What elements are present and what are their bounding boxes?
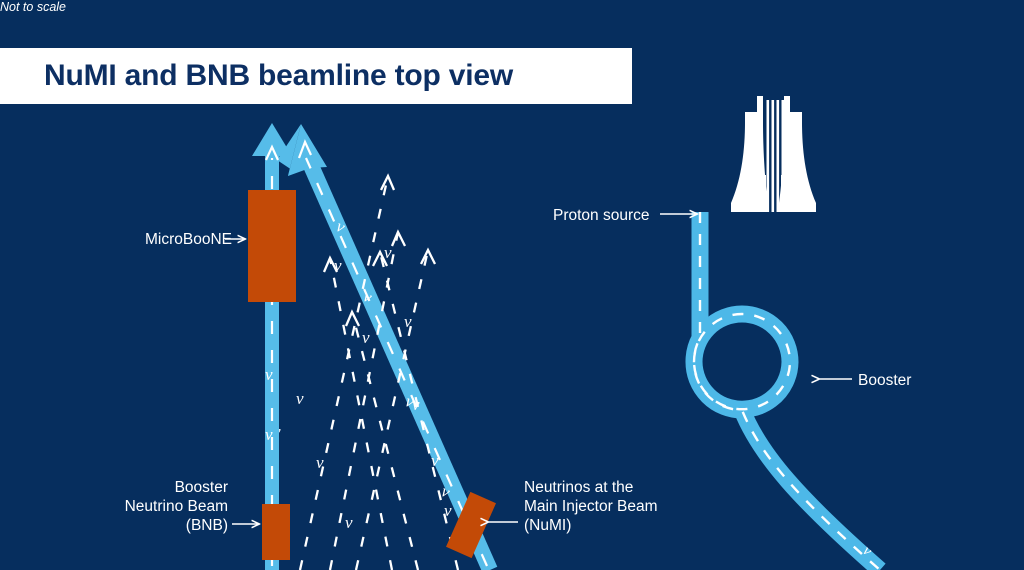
microboone-detector: [248, 190, 296, 302]
neutrino-symbol: ν: [334, 256, 342, 275]
label-microboone: MicroBooNE: [112, 230, 232, 249]
neutrino-symbol: ν: [296, 389, 304, 408]
label-booster-neutrino-beam: Booster Neutrino Beam (BNB): [80, 478, 228, 535]
neutrino-symbol: ν: [362, 328, 370, 347]
neutrino-symbol: ν: [404, 312, 412, 331]
neutrino-symbol: ν: [444, 501, 452, 520]
neutrino-symbol: ν: [431, 451, 439, 470]
label-numi-beam: Neutrinos at the Main Injector Beam (NuM…: [524, 478, 714, 535]
neutrino-symbol: ν: [265, 365, 273, 384]
label-booster: Booster: [858, 371, 948, 390]
neutrino-symbol: ν: [265, 425, 273, 444]
title-banner: NuMI and BNB beamline top view: [0, 48, 632, 104]
neutrino-symbol: ν: [384, 243, 392, 262]
diagram-canvas: ν ν ν ν ν: [0, 0, 1024, 570]
neutrino-symbol: ν: [345, 513, 353, 532]
neutrino-symbol: ν: [412, 395, 420, 414]
wilson-hall-logo: [731, 96, 816, 212]
neutrino-symbol: ν: [316, 453, 324, 472]
page-title: NuMI and BNB beamline top view: [44, 59, 513, 93]
booster-beam-path: ν: [694, 212, 880, 570]
label-proton-source: Proton source: [553, 206, 673, 225]
bnb-target-block: [262, 504, 290, 560]
neutrino-trajectories: [300, 176, 458, 570]
